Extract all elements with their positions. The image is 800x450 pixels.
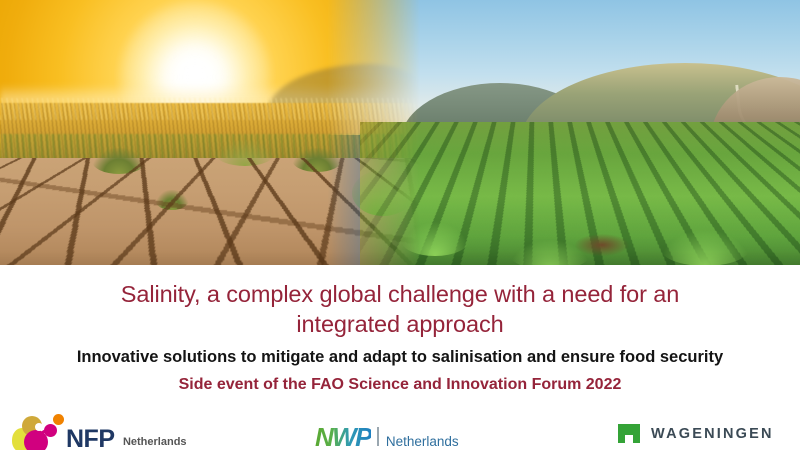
logo-row: NFP Netherlands NWP Netherlands WAGENING… [0,414,800,450]
grass-tuft [292,148,342,172]
nfp-logo-icon [10,414,68,450]
presentation-slide: Salinity, a complex global challenge wit… [0,0,800,450]
grass-tuft [352,170,414,216]
slide-subtitle: Innovative solutions to mitigate and ada… [0,347,800,367]
slide-title: Salinity, a complex global challenge wit… [0,265,800,339]
logo-divider [377,427,379,446]
grass-tuft [92,148,146,174]
image-bottom-shadow [0,252,800,265]
wageningen-wordmark: WAGENINGEN [651,425,774,443]
grass-tuft [215,140,275,166]
hero-image [0,0,800,265]
logo-nfp: NFP Netherlands [10,414,187,450]
nwp-abbreviation: NWP [315,426,371,448]
logo-nwp: NWP Netherlands [315,426,459,450]
dry-grass-tips [0,98,420,120]
cracked-earth [0,158,420,265]
logo-wageningen: WAGENINGEN [618,424,774,444]
nfp-abbreviation: NFP [66,428,115,450]
nfp-tagline: Netherlands [123,434,187,450]
drought-scene [0,0,420,265]
wageningen-mark-icon [618,424,640,443]
grass-tuft [155,190,189,210]
green-crop-field [360,122,800,265]
event-line: Side event of the FAO Science and Innova… [0,375,800,394]
nwp-tagline: Netherlands [386,433,459,450]
